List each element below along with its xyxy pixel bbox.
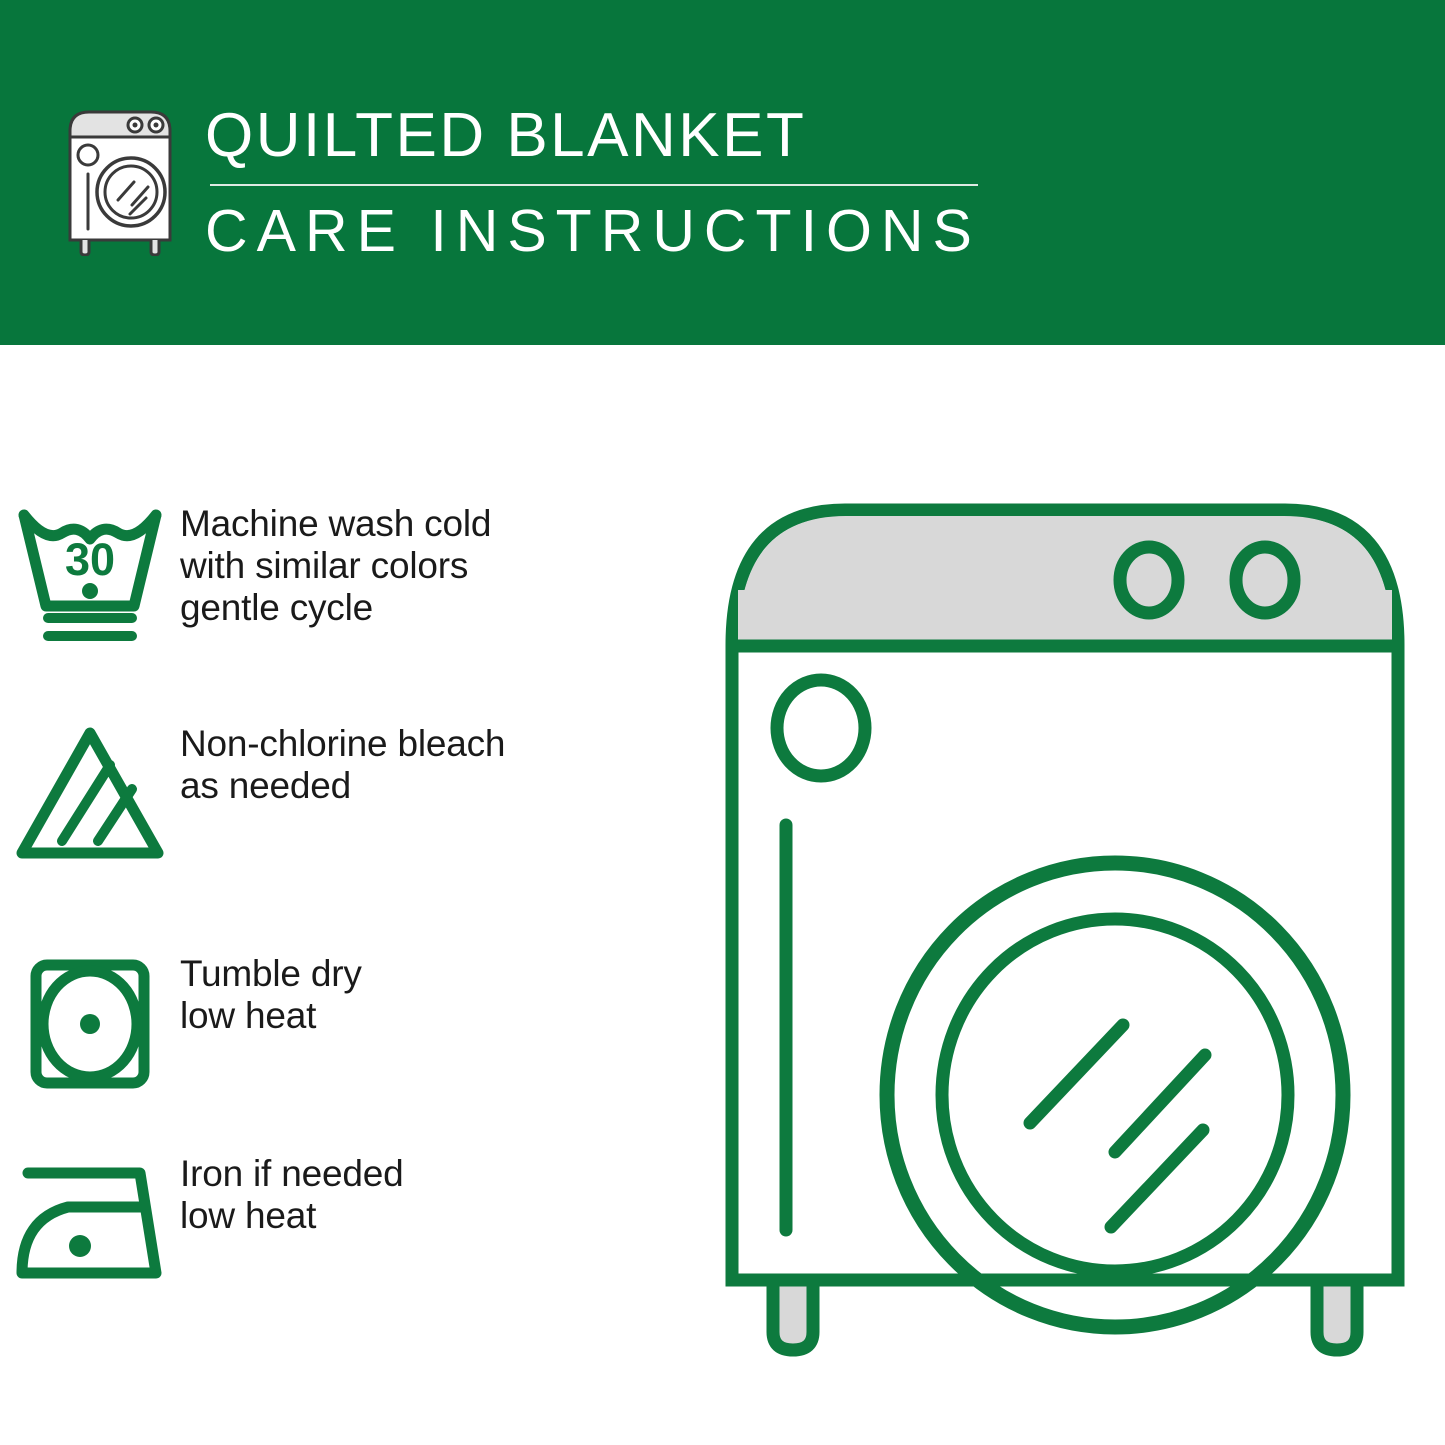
care-row-iron: Iron if needed low heat	[0, 1145, 700, 1299]
care-text-iron: Iron if needed low heat	[180, 1145, 403, 1237]
title-divider	[210, 184, 978, 186]
wash-temperature-label: 30	[65, 534, 115, 585]
care-line: low heat	[180, 1195, 403, 1237]
page-subtitle: CARE INSTRUCTIONS	[205, 194, 995, 268]
leg-left	[773, 1280, 813, 1350]
care-line: as needed	[180, 765, 505, 807]
care-line: Tumble dry	[180, 953, 362, 995]
care-text-machine-wash: Machine wash cold with similar colors ge…	[180, 495, 491, 629]
leg-right	[1317, 1280, 1357, 1350]
care-line: Non-chlorine bleach	[180, 723, 505, 765]
care-instruction-list: 30 Machine wash cold with similar colors…	[0, 345, 700, 1445]
header-title-group: QUILTED BLANKET CARE INSTRUCTIONS	[205, 98, 995, 268]
care-row-bleach: Non-chlorine bleach as needed	[0, 715, 700, 869]
wash-tub-30-icon: 30	[0, 495, 180, 649]
care-line: Iron if needed	[180, 1153, 403, 1195]
care-row-machine-wash: 30 Machine wash cold with similar colors…	[0, 495, 700, 649]
header-banner: QUILTED BLANKET CARE INSTRUCTIONS	[0, 0, 1445, 345]
care-text-tumble-dry: Tumble dry low heat	[180, 945, 362, 1037]
bleach-triangle-icon	[0, 715, 180, 869]
care-line: gentle cycle	[180, 587, 491, 629]
care-line: Machine wash cold	[180, 503, 491, 545]
care-line: with similar colors	[180, 545, 491, 587]
care-line: low heat	[180, 995, 362, 1037]
washing-machine-icon	[62, 104, 186, 256]
washing-machine-illustration	[715, 470, 1415, 1360]
care-text-bleach: Non-chlorine bleach as needed	[180, 715, 505, 807]
tumble-dry-icon	[0, 945, 180, 1099]
care-instructions-page: QUILTED BLANKET CARE INSTRUCTIONS 30	[0, 0, 1445, 1445]
page-title: QUILTED BLANKET	[205, 98, 995, 174]
iron-icon	[0, 1145, 180, 1299]
care-row-tumble-dry: Tumble dry low heat	[0, 945, 700, 1099]
